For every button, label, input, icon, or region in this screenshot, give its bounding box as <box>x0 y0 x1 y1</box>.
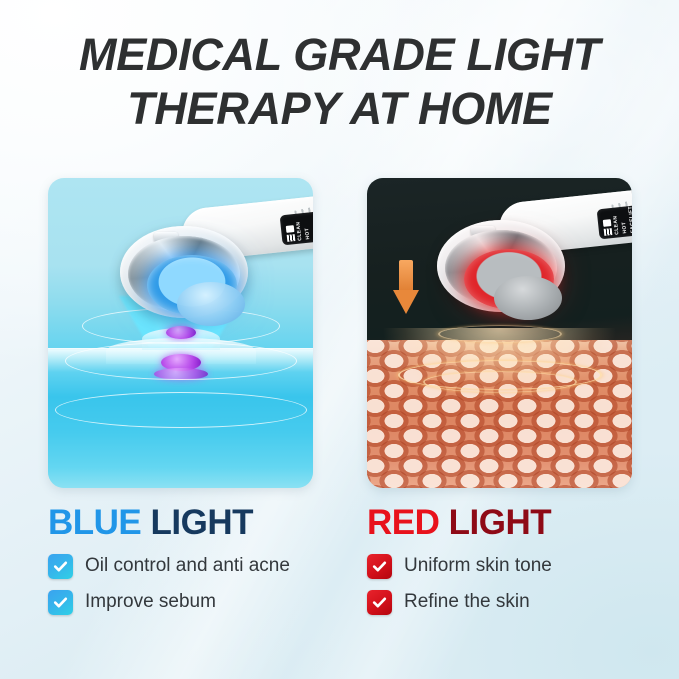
check-icon <box>367 554 392 579</box>
feature-label: Uniform skin tone <box>404 556 552 577</box>
device-mode-label: HOT <box>622 222 628 234</box>
red-light-heading-strong: RED <box>367 503 439 542</box>
blue-light-text-block: BLUE LIGHT Oil control and anti acne Imp… <box>48 503 348 615</box>
blue-light-heading: BLUE LIGHT <box>48 503 348 543</box>
led-ring-red <box>464 249 554 309</box>
device-display-screen: CLEAN HOT <box>280 209 313 246</box>
blue-light-device: CLEAN HOT <box>120 196 313 321</box>
red-light-heading-rest: LIGHT <box>439 503 551 542</box>
device-lens <box>494 276 562 320</box>
energy-ring <box>55 392 307 428</box>
blue-light-heading-strong: BLUE <box>48 503 141 542</box>
device-head <box>120 226 248 318</box>
device-mode-label: HOT <box>305 228 311 240</box>
red-light-heading: RED LIGHT <box>367 503 657 543</box>
device-head <box>437 220 565 312</box>
check-icon <box>367 590 392 615</box>
battery-signal-icon <box>285 225 296 242</box>
blue-light-heading-rest: LIGHT <box>141 503 253 542</box>
energy-ring <box>65 342 297 380</box>
device-display-screen: CLEAN HOT FACELIFT COOL <box>597 203 632 240</box>
feature-label: Oil control and anti acne <box>85 556 290 577</box>
energy-swirl <box>423 371 577 392</box>
headline-line-1: MEDICAL GRADE LIGHT <box>79 29 600 80</box>
device-mode-label: CLEAN <box>296 221 303 241</box>
device-mode-label: CLEAN <box>613 215 620 235</box>
red-light-panel: CLEAN HOT FACELIFT COOL <box>367 178 632 488</box>
battery-signal-icon <box>602 219 613 236</box>
feature-label: Refine the skin <box>404 592 530 613</box>
energy-swirl <box>438 325 562 342</box>
page-title: MEDICAL GRADE LIGHT THERAPY AT HOME <box>0 28 679 136</box>
device-lens <box>177 282 245 326</box>
red-light-text-block: RED LIGHT Uniform skin tone Refine the s… <box>367 503 657 615</box>
device-chrome-bezel <box>128 236 240 312</box>
feature-label: Improve sebum <box>85 592 216 613</box>
poster-canvas: MEDICAL GRADE LIGHT THERAPY AT HOME <box>0 0 679 679</box>
check-icon <box>48 590 73 615</box>
blue-light-panel: CLEAN HOT <box>48 178 313 488</box>
list-item: Uniform skin tone <box>367 554 657 579</box>
device-mode-label: FACELIFT <box>628 206 632 233</box>
led-ring-blue <box>147 255 237 315</box>
list-item: Oil control and anti acne <box>48 554 348 579</box>
arrow-down-icon <box>393 260 419 314</box>
list-item: Refine the skin <box>367 590 657 615</box>
list-item: Improve sebum <box>48 590 348 615</box>
headline-line-2: THERAPY AT HOME <box>0 82 679 136</box>
red-light-device: CLEAN HOT FACELIFT COOL <box>437 190 632 315</box>
check-icon <box>48 554 73 579</box>
device-chrome-bezel <box>445 230 557 306</box>
